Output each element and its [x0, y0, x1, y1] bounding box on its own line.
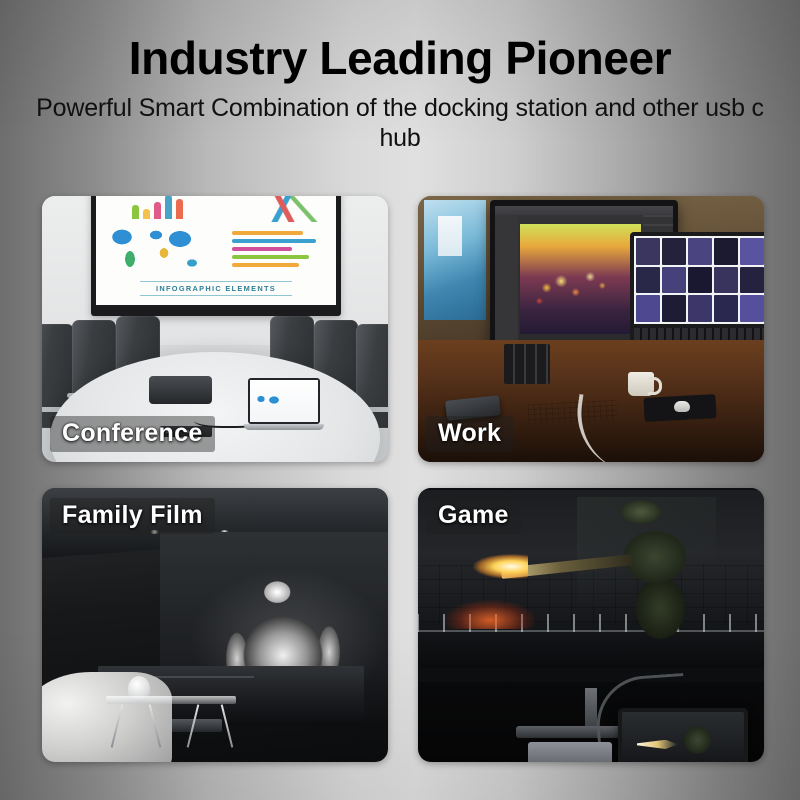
desk-pen-holder: [504, 344, 550, 384]
editor-tool-rail: [495, 215, 518, 344]
page-title: Industry Leading Pioneer: [0, 34, 800, 82]
infographic-caption: INFOGRAPHIC ELEMENTS: [140, 281, 292, 296]
conference-laptop: [248, 378, 324, 432]
editor-toolbar: [495, 206, 673, 215]
game-explosion-glow: [445, 600, 535, 628]
monitor-stand-neck: [585, 688, 597, 730]
panel-work[interactable]: Work: [418, 196, 764, 462]
infographic-kpi-bars: [232, 231, 328, 267]
docking-station-device: [528, 742, 612, 762]
panel-label-conference: Conference: [50, 416, 215, 452]
display-content: INFOGRAPHIC ELEMENTS: [96, 196, 336, 305]
coffee-mug: [628, 372, 654, 396]
docking-station-device: [149, 376, 212, 404]
scenario-panel-grid: INFOGRAPHIC ELEMENTS Conference: [42, 196, 764, 762]
panel-label-game: Game: [426, 498, 521, 534]
game-soldier-character: [577, 497, 716, 647]
panel-game[interactable]: Game: [418, 488, 764, 762]
panel-family-film[interactable]: Family Film: [42, 488, 388, 762]
hero-header: Industry Leading Pioneer Powerful Smart …: [0, 0, 800, 153]
infographic-line-chart: [240, 196, 326, 222]
laptop-screen-thumbnails: [634, 236, 764, 324]
infographic-world-map: [108, 223, 212, 278]
panel-label-work: Work: [426, 416, 513, 452]
page-subtitle: Powerful Smart Combination of the dockin…: [0, 94, 800, 153]
conference-wall-display: INFOGRAPHIC ELEMENTS: [91, 196, 341, 316]
infographic-bar-chart: [132, 196, 194, 219]
wall-poster: [424, 200, 486, 320]
editor-canvas-image: [520, 224, 641, 334]
panel-conference[interactable]: INFOGRAPHIC ELEMENTS Conference: [42, 196, 388, 462]
glass-coffee-table: [106, 696, 236, 752]
game-muzzle-flash: [473, 554, 529, 579]
panel-label-family-film: Family Film: [50, 498, 215, 534]
